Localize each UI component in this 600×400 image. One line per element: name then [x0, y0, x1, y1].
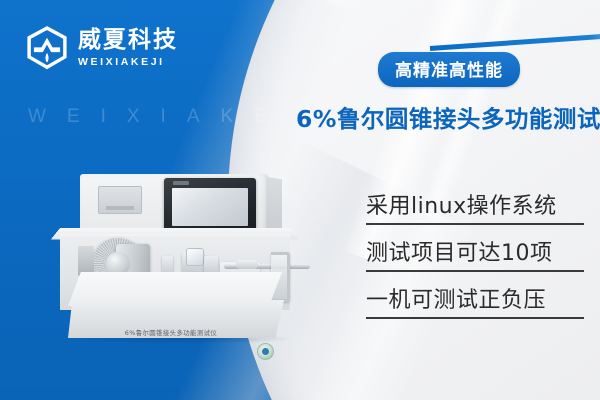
wheel-side-block — [78, 246, 94, 276]
brand-name-cn: 威夏科技 — [78, 29, 178, 52]
brand-name-en: WEIXIAKEJI — [78, 57, 178, 68]
feature-label: 采用linux操作系统 — [366, 196, 584, 223]
product-photo: 6%鲁尔圆锥接头多功能测试仪 — [58, 168, 310, 368]
feature-item: 测试项目可达10项 — [366, 243, 584, 272]
feature-item: 采用linux操作系统 — [366, 196, 584, 225]
feature-divider — [366, 270, 584, 272]
feature-label: 一机可测试正负压 — [366, 290, 584, 317]
machine-side-panel — [98, 186, 142, 214]
brand-logo: 威夏科技 WEIXIAKEJI — [25, 26, 178, 70]
piston-head — [236, 260, 258, 269]
screen-status-led — [173, 181, 189, 185]
machine-nameplate-label: 6%鲁尔圆锥接头多功能测试仪 — [68, 328, 274, 337]
touchscreen-display — [172, 188, 248, 226]
test-connector-piece — [186, 248, 204, 266]
background-watermark-text: WEIXIAKE — [28, 106, 288, 128]
product-headline: 6%鲁尔圆锥接头多功能测试仪 — [296, 100, 596, 134]
hexagon-shield-icon — [25, 26, 69, 70]
touchscreen-hmi-icon — [164, 178, 256, 234]
promo-banner: WEIXIAKE 威夏科技 WEIXIAKEJI 高精准高性能 6%鲁尔圆锥接头… — [0, 0, 600, 400]
feature-list: 采用linux操作系统 测试项目可达10项 一机可测试正负压 — [366, 196, 584, 337]
feature-item: 一机可测试正负压 — [366, 290, 584, 319]
certification-emblem-icon — [257, 343, 274, 360]
highlight-badge: 高精准高性能 — [378, 52, 520, 87]
brand-logo-text: 威夏科技 WEIXIAKEJI — [78, 29, 178, 68]
feature-label: 测试项目可达10项 — [366, 243, 584, 270]
feature-divider — [366, 317, 584, 319]
feature-divider — [366, 223, 584, 225]
